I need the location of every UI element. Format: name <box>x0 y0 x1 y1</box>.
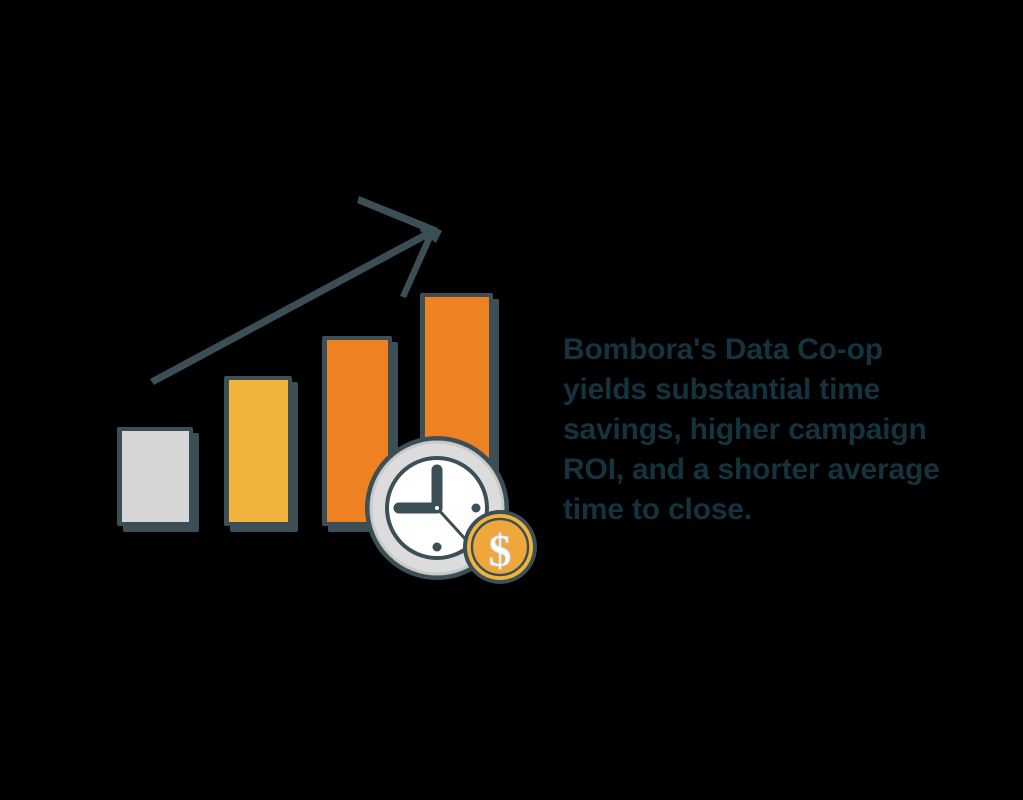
clock-marker-3 <box>472 504 481 513</box>
growth-arrow-icon <box>150 196 442 385</box>
illustration-canvas: $ Bombora's Data Co-op yields substantia… <box>0 0 1023 800</box>
dollar-coin-icon: $ <box>463 510 537 584</box>
bar-2-yellow <box>224 376 298 532</box>
growth-chart-illustration: $ <box>0 0 560 800</box>
caption-text: Bombora's Data Co-op yields substantial … <box>563 330 963 530</box>
clock-marker-6 <box>433 543 442 552</box>
bar-1-gray <box>117 427 199 532</box>
dollar-symbol: $ <box>489 525 512 576</box>
caption-block: Bombora's Data Co-op yields substantial … <box>563 330 963 530</box>
